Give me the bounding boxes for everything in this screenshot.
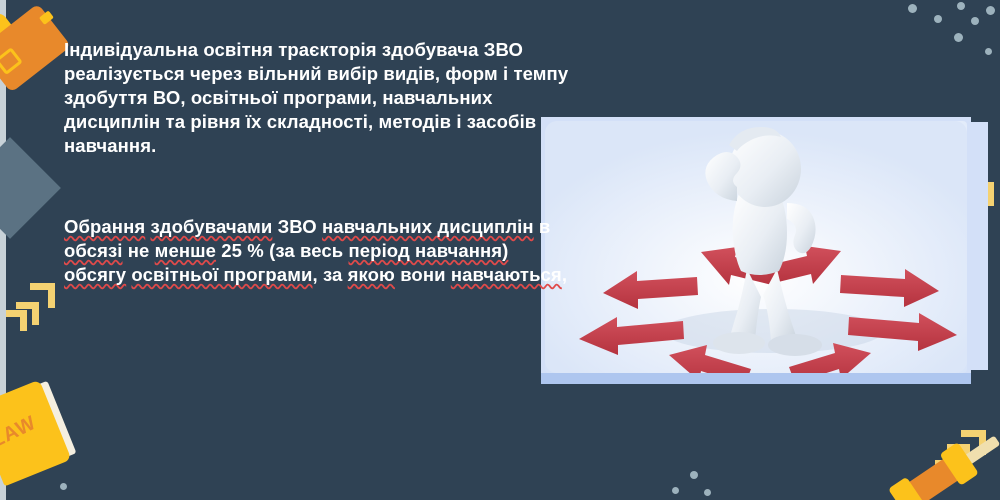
spellcheck-word: обсягу [64,264,126,285]
presentation-slide: LAW [0,0,1000,500]
decorative-dot [60,483,67,490]
briefcase-icon [0,0,74,94]
decorative-dot [957,2,965,10]
plain-text: 25 % (за весь [216,240,348,261]
illustration-image: 3D white figure standing with hand on he… [541,117,971,384]
text-column: Індивідуальна освітня траєкторія здобува… [64,38,574,287]
paragraph-one: Індивідуальна освітня траєкторія здобува… [64,38,574,158]
decorative-dot [704,489,711,496]
diamond-icon [0,137,61,239]
spellcheck-word: менше [155,240,216,261]
decorative-dot [971,17,979,25]
decorative-dot [934,15,942,23]
spellcheck-word: період навчання) [349,240,509,261]
plain-text: не [123,240,155,261]
spellcheck-word: обсязі [64,240,123,261]
spellcheck-word: якою [348,264,395,285]
plain-text: в [534,216,551,237]
plain-text: , за [312,264,347,285]
spellcheck-word: здобувачами [151,216,273,237]
plain-text: вони [395,264,451,285]
decorative-dot [985,48,992,55]
illustration-bottom-strip [541,373,971,384]
chevron-icon [6,310,27,331]
spellcheck-word: навчаються [451,264,562,285]
decorative-dot [986,6,995,15]
spellcheck-word: Обрання [64,216,145,237]
decorative-dot [908,4,917,13]
decorative-dot [954,33,963,42]
plain-text: ЗВО [272,216,322,237]
law-book-icon: LAW [0,380,71,487]
plain-text: , [562,264,567,285]
paragraph-two: Обрання здобувачами ЗВО навчальних дисци… [64,215,574,287]
spellcheck-word: освітньої програми [131,264,312,285]
decorative-dot [690,471,698,479]
decorative-dot [672,487,679,494]
spellcheck-word: навчальних дисциплін [322,216,534,237]
confused-figure-with-arrows-graphic [541,117,971,384]
